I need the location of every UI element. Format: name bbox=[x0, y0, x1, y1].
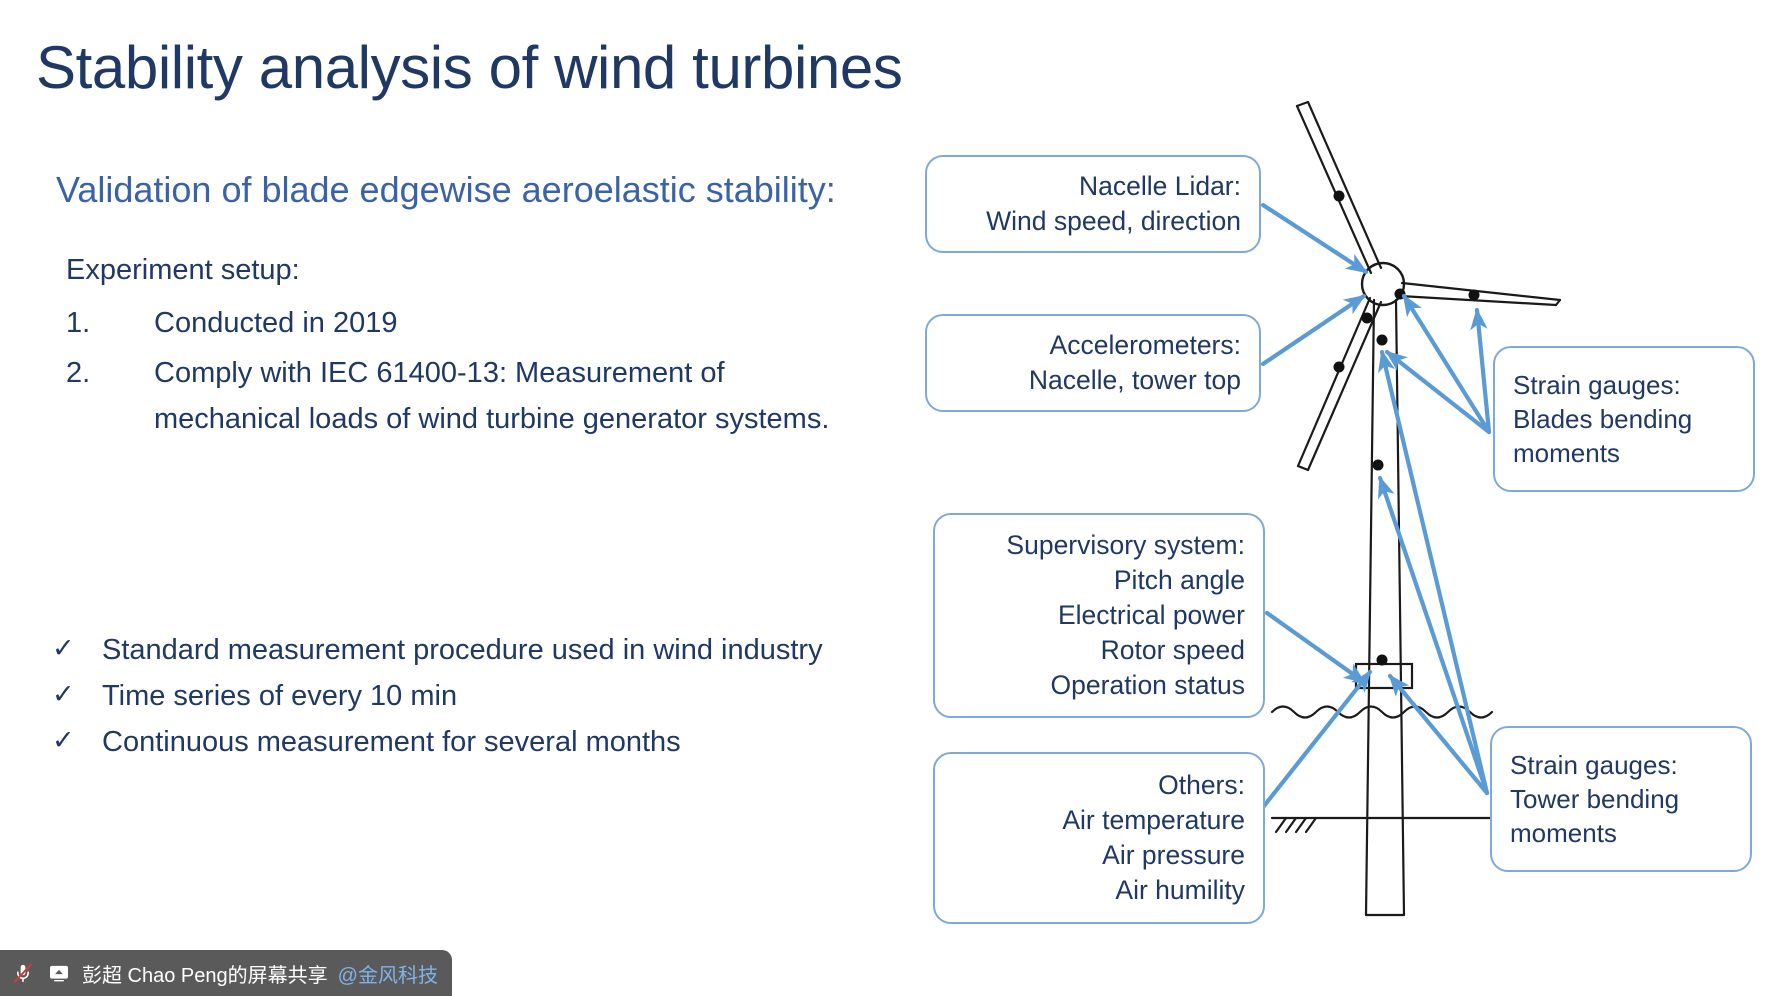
callout-blade-strain-gauges[interactable]: Strain gauges: Blades bending moments bbox=[1493, 346, 1755, 492]
blade-lower-left-edge-b bbox=[1308, 302, 1381, 470]
list-item-text: Comply with IEC 61400-13: Measurement of… bbox=[154, 351, 856, 443]
blade-upper-left-tip bbox=[1297, 102, 1308, 106]
seabed-hatch bbox=[1306, 818, 1316, 832]
sensor-dot-tower-mid bbox=[1373, 460, 1384, 471]
sensor-dot-blade-upper bbox=[1334, 191, 1345, 202]
callout-nacelle-lidar[interactable]: Nacelle Lidar: Wind speed, direction bbox=[925, 155, 1261, 253]
list-item-text: Continuous measurement for several month… bbox=[102, 720, 844, 764]
callout-line: Operation status bbox=[953, 668, 1245, 703]
arrow-blade-strain-to-root bbox=[1404, 296, 1489, 432]
callout-line: Nacelle, tower top bbox=[945, 363, 1241, 398]
sensor-dot-blade-right-root bbox=[1395, 289, 1406, 300]
blade-upper-left-edge-a bbox=[1297, 106, 1371, 273]
list-item: ✓ Continuous measurement for several mon… bbox=[44, 720, 844, 764]
list-item-marker: 1. bbox=[66, 301, 154, 346]
screen-share-status-bar: 彭超 Chao Peng的屏幕共享 @金风科技 bbox=[0, 950, 452, 996]
list-item: 2. Comply with IEC 61400-13: Measurement… bbox=[66, 351, 856, 443]
key-points-block: ✓ Standard measurement procedure used in… bbox=[44, 628, 844, 766]
sensor-dot-blade-lower bbox=[1334, 362, 1345, 373]
list-item: ✓ Standard measurement procedure used in… bbox=[44, 628, 844, 672]
share-label: 彭超 Chao Peng的屏幕共享 bbox=[82, 959, 328, 988]
blade-lower-left-edge-a bbox=[1298, 298, 1370, 466]
callout-line: Air pressure bbox=[953, 838, 1245, 873]
callout-line: Accelerometers: bbox=[945, 328, 1241, 363]
blade-right-edge-a bbox=[1402, 283, 1560, 300]
arrow-accel-to-nacelle bbox=[1263, 296, 1364, 364]
sensor-markers bbox=[1334, 191, 1480, 666]
checkmark-list: ✓ Standard measurement procedure used in… bbox=[44, 628, 844, 764]
tower-right-edge bbox=[1396, 300, 1404, 915]
sensor-dot-tower-top bbox=[1377, 335, 1388, 346]
callout-line: Strain gauges: bbox=[1510, 748, 1732, 782]
nacelle-hub bbox=[1362, 263, 1404, 305]
list-item: 1. Conducted in 2019 bbox=[66, 301, 856, 347]
callout-line: Strain gauges: bbox=[1513, 368, 1735, 402]
seabed-hatch bbox=[1286, 818, 1296, 832]
arrow-blade-strain-to-mid bbox=[1477, 310, 1489, 432]
sea-level-wave bbox=[1272, 707, 1492, 718]
callout-line: Pitch angle bbox=[953, 563, 1245, 598]
callout-line: Rotor speed bbox=[953, 633, 1245, 668]
callout-line: moments bbox=[1513, 436, 1735, 470]
sensor-dot-blade-right-mid bbox=[1469, 290, 1480, 301]
callout-line: Blades bending bbox=[1513, 402, 1735, 436]
arrow-blade-strain-to-hub bbox=[1387, 352, 1489, 432]
blade-right-tip bbox=[1556, 300, 1560, 305]
list-item-text: Time series of every 10 min bbox=[102, 674, 844, 718]
blade-lower-left-tip bbox=[1298, 466, 1308, 470]
sensor-dot-tower-platform bbox=[1377, 655, 1388, 666]
callout-supervisory-system[interactable]: Supervisory system: Pitch angle Electric… bbox=[933, 513, 1265, 718]
seabed-hatch bbox=[1276, 818, 1286, 832]
callout-line: Electrical power bbox=[953, 598, 1245, 633]
sensor-dot-blade-lower-root bbox=[1362, 313, 1373, 324]
arrow-lidar-to-nacelle bbox=[1263, 205, 1366, 272]
page-title: Stability analysis of wind turbines bbox=[36, 34, 1136, 101]
callout-line: moments bbox=[1510, 816, 1732, 850]
blade-right-edge-b bbox=[1400, 296, 1556, 305]
arrow-tower-strain-to-mid bbox=[1380, 478, 1487, 793]
tower-left-edge bbox=[1366, 300, 1374, 915]
check-icon: ✓ bbox=[44, 628, 102, 670]
callout-line: Air humility bbox=[953, 873, 1245, 908]
share-company-label: @金风科技 bbox=[338, 959, 438, 988]
experiment-setup-heading: Experiment setup: bbox=[66, 248, 856, 293]
arrow-tower-strain-to-top bbox=[1382, 352, 1487, 793]
transition-platform bbox=[1356, 664, 1412, 688]
arrow-tower-strain-to-platform bbox=[1390, 676, 1487, 793]
list-item-text: Standard measurement procedure used in w… bbox=[102, 628, 844, 672]
callout-others[interactable]: Others: Air temperature Air pressure Air… bbox=[933, 752, 1265, 924]
list-item-text: Conducted in 2019 bbox=[154, 301, 856, 347]
callout-arrows bbox=[1245, 205, 1489, 830]
check-icon: ✓ bbox=[44, 720, 102, 762]
callout-line: Nacelle Lidar: bbox=[945, 169, 1241, 204]
check-icon: ✓ bbox=[44, 674, 102, 716]
callout-tower-strain-gauges[interactable]: Strain gauges: Tower bending moments bbox=[1490, 726, 1752, 872]
seabed-hatch bbox=[1296, 818, 1306, 832]
arrow-supervisory-to-platform bbox=[1267, 613, 1364, 682]
numbered-list: 1. Conducted in 2019 2. Comply with IEC … bbox=[66, 301, 856, 442]
list-item: ✓ Time series of every 10 min bbox=[44, 674, 844, 718]
callout-accelerometers[interactable]: Accelerometers: Nacelle, tower top bbox=[925, 314, 1261, 412]
screen-share-icon[interactable] bbox=[46, 960, 72, 986]
callout-line: Supervisory system: bbox=[953, 528, 1245, 563]
callout-line: Tower bending bbox=[1510, 782, 1732, 816]
list-item-marker: 2. bbox=[66, 351, 154, 396]
callout-line: Others: bbox=[953, 768, 1245, 803]
slide-canvas: Stability analysis of wind turbines Vali… bbox=[0, 0, 1768, 996]
callout-line: Air temperature bbox=[953, 803, 1245, 838]
blade-upper-left-edge-b bbox=[1308, 102, 1381, 268]
callout-line: Wind speed, direction bbox=[945, 204, 1241, 239]
experiment-setup-block: Experiment setup: 1. Conducted in 2019 2… bbox=[66, 248, 856, 446]
slide-subtitle: Validation of blade edgewise aeroelastic… bbox=[56, 168, 956, 211]
microphone-muted-icon[interactable] bbox=[10, 960, 36, 986]
